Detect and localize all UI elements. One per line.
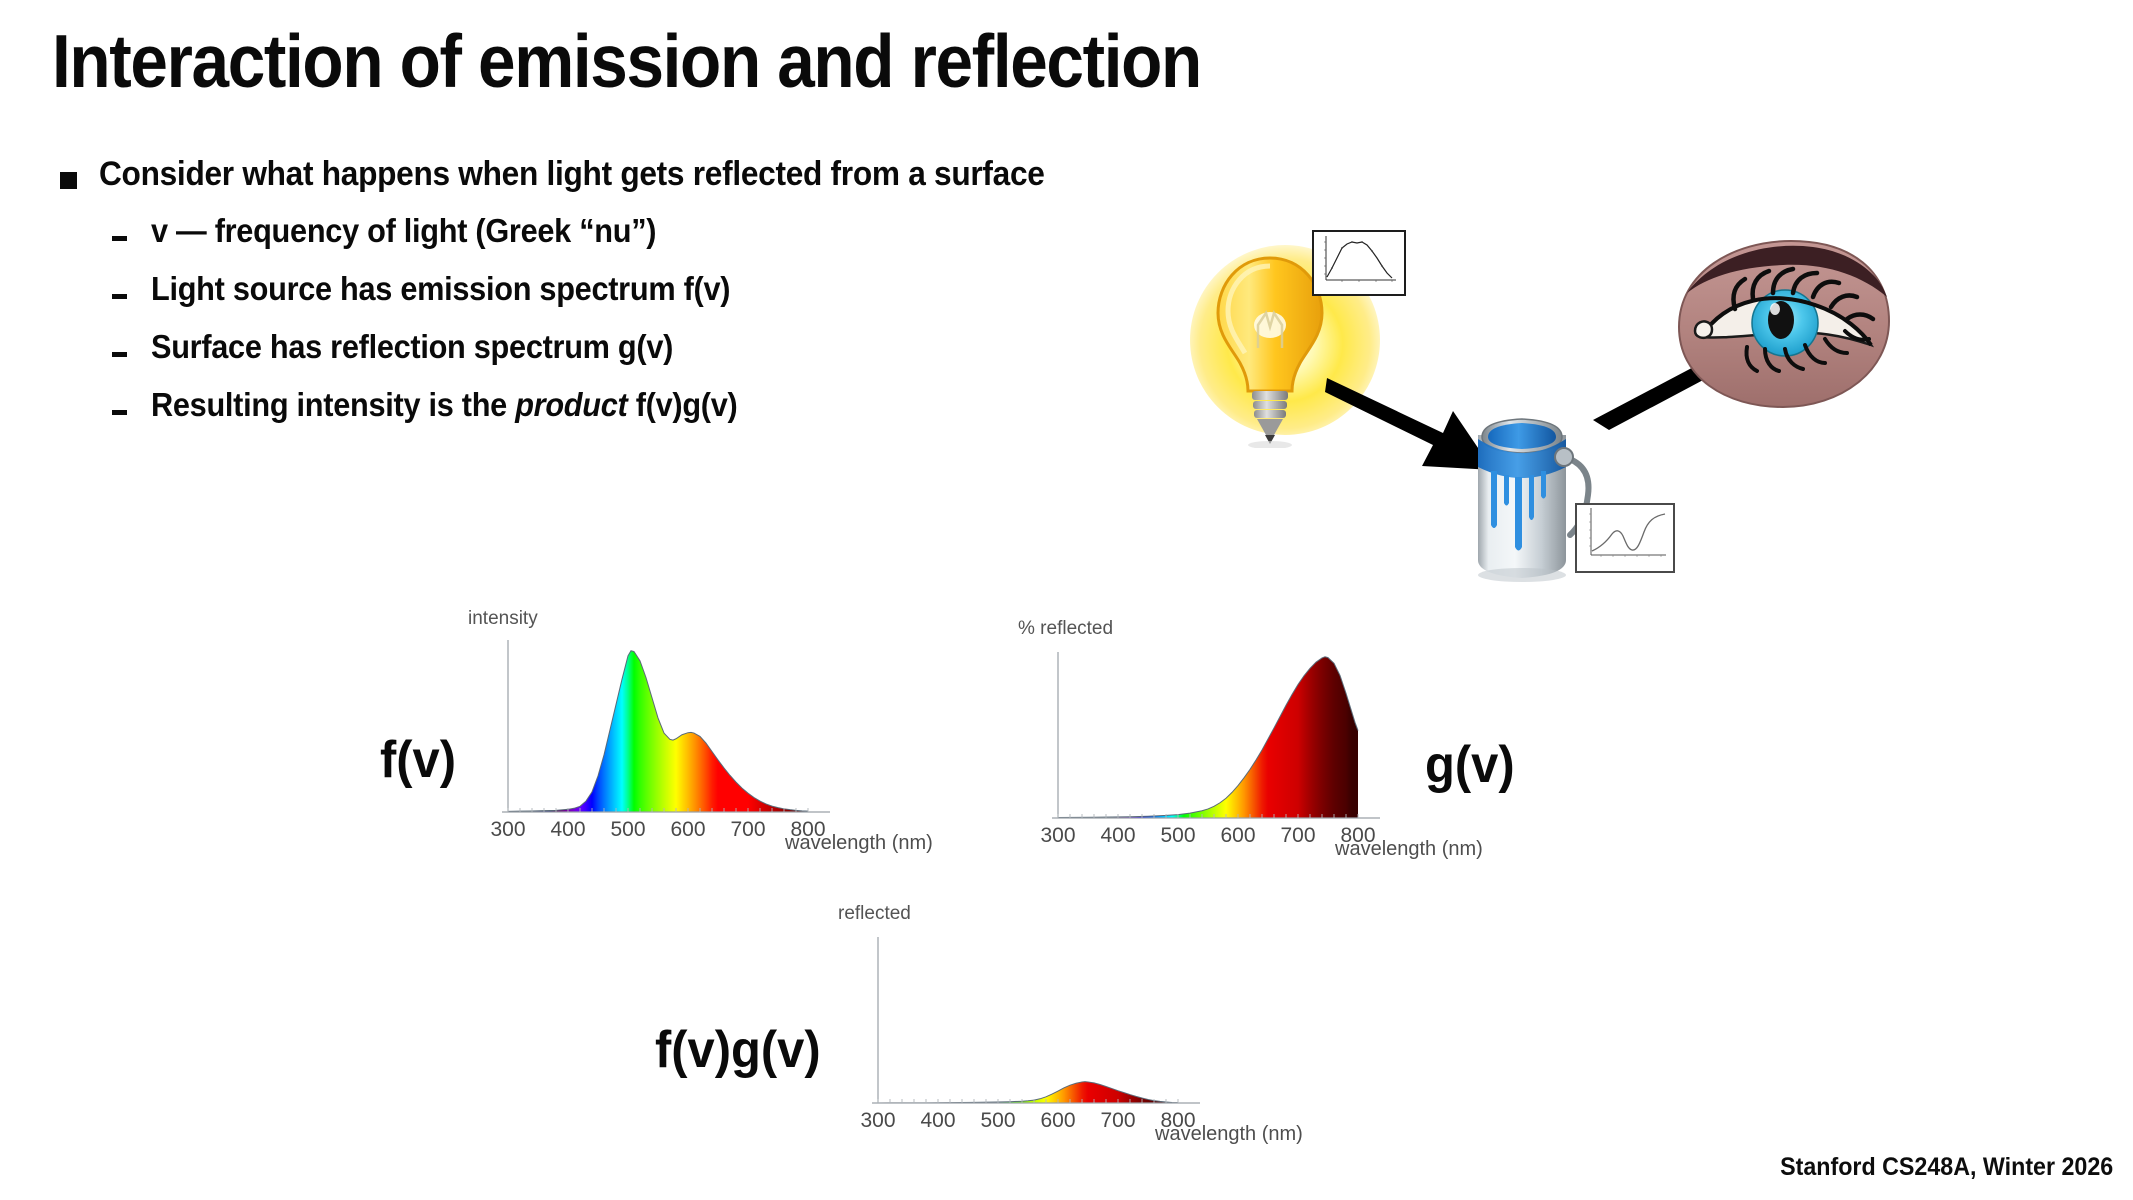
x-tick-label: 700 (730, 818, 765, 842)
spectrum-shade (878, 1082, 1178, 1103)
x-tick-label: 500 (610, 818, 645, 842)
bullet-text-post: f(v)g(v) (627, 386, 737, 423)
bullet-level1-label: Consider what happens when light gets re… (99, 155, 1045, 194)
x-tick-label: 500 (1160, 824, 1195, 848)
x-tick-label: 800 (790, 818, 825, 842)
bullet-level2-label: v — frequency of light (Greek “nu”) (151, 212, 656, 250)
bullet-level2-label-product: Resulting intensity is the product f(v)g… (151, 386, 737, 424)
bullet-level2: Surface has reflection spectrum g(v) (112, 328, 1180, 366)
bullet-level2-label: Light source has emission spectrum f(v) (151, 270, 730, 308)
chart-fg-ylabel: reflected (838, 903, 911, 925)
chart-fg-function-label: f(v)g(v) (655, 1020, 821, 1080)
chart-g-function-label: g(v) (1425, 735, 1515, 795)
chart-fg: reflected f(v)g(v) wavelength (nm) 30040… (860, 935, 1240, 1165)
dash-bullet-icon (112, 352, 127, 357)
x-tick-label: 400 (550, 818, 585, 842)
chart-g: % reflected g(v) wavelength (nm) 3004005… (1040, 650, 1420, 880)
footer-credit: Stanford CS248A, Winter 2026 (1780, 1153, 2113, 1182)
chart-g-ylabel: % reflected (1018, 618, 1113, 640)
light-reflection-illustration (1180, 235, 1940, 615)
inset-line-chart (1577, 505, 1669, 567)
sub-bullet-list: v — frequency of light (Greek “nu”) Ligh… (112, 212, 1180, 424)
bullet-list: Consider what happens when light gets re… (60, 155, 1180, 444)
chart-f-ylabel: intensity (468, 608, 538, 630)
eye-icon (1665, 235, 1905, 420)
x-tick-label: 800 (1340, 824, 1375, 848)
reflection-spectrum-inset (1575, 503, 1675, 573)
dash-bullet-icon (112, 294, 127, 299)
x-tick-label: 400 (920, 1109, 955, 1133)
x-tick-label: 400 (1100, 824, 1135, 848)
bullet-text-pre: Resulting intensity is the (151, 386, 515, 423)
x-tick-label: 600 (670, 818, 705, 842)
dash-bullet-icon (112, 410, 127, 415)
chart-f-function-label: f(v) (380, 730, 456, 790)
inset-line-chart (1314, 232, 1400, 290)
x-tick-label: 800 (1160, 1109, 1195, 1133)
bullet-text-italic: product (515, 386, 627, 423)
x-tick-label: 600 (1220, 824, 1255, 848)
x-tick-label: 700 (1280, 824, 1315, 848)
slide-root: Interaction of emission and reflection C… (0, 0, 2133, 1200)
x-tick-label: 700 (1100, 1109, 1135, 1133)
x-tick-label: 500 (980, 1109, 1015, 1133)
x-tick-label: 300 (1040, 824, 1075, 848)
spectrum-area (508, 651, 808, 812)
bullet-level1: Consider what happens when light gets re… (60, 155, 1180, 194)
x-tick-label: 300 (860, 1109, 895, 1133)
chart-f: intensity f(v) wavelength (nm) 300400500… (490, 640, 870, 875)
bullet-level2: Light source has emission spectrum f(v) (112, 270, 1180, 308)
bullet-level2: Resulting intensity is the product f(v)g… (112, 386, 1180, 424)
x-tick-label: 600 (1040, 1109, 1075, 1133)
dash-bullet-icon (112, 236, 127, 241)
x-tick-label: 300 (490, 818, 525, 842)
page-title: Interaction of emission and reflection (52, 22, 1201, 101)
bullet-level2-label: Surface has reflection spectrum g(v) (151, 328, 673, 366)
bullet-level2: v — frequency of light (Greek “nu”) (112, 212, 1180, 250)
square-bullet-icon (60, 172, 77, 189)
spectrum-shade (1058, 657, 1358, 818)
emission-spectrum-inset (1312, 230, 1406, 296)
